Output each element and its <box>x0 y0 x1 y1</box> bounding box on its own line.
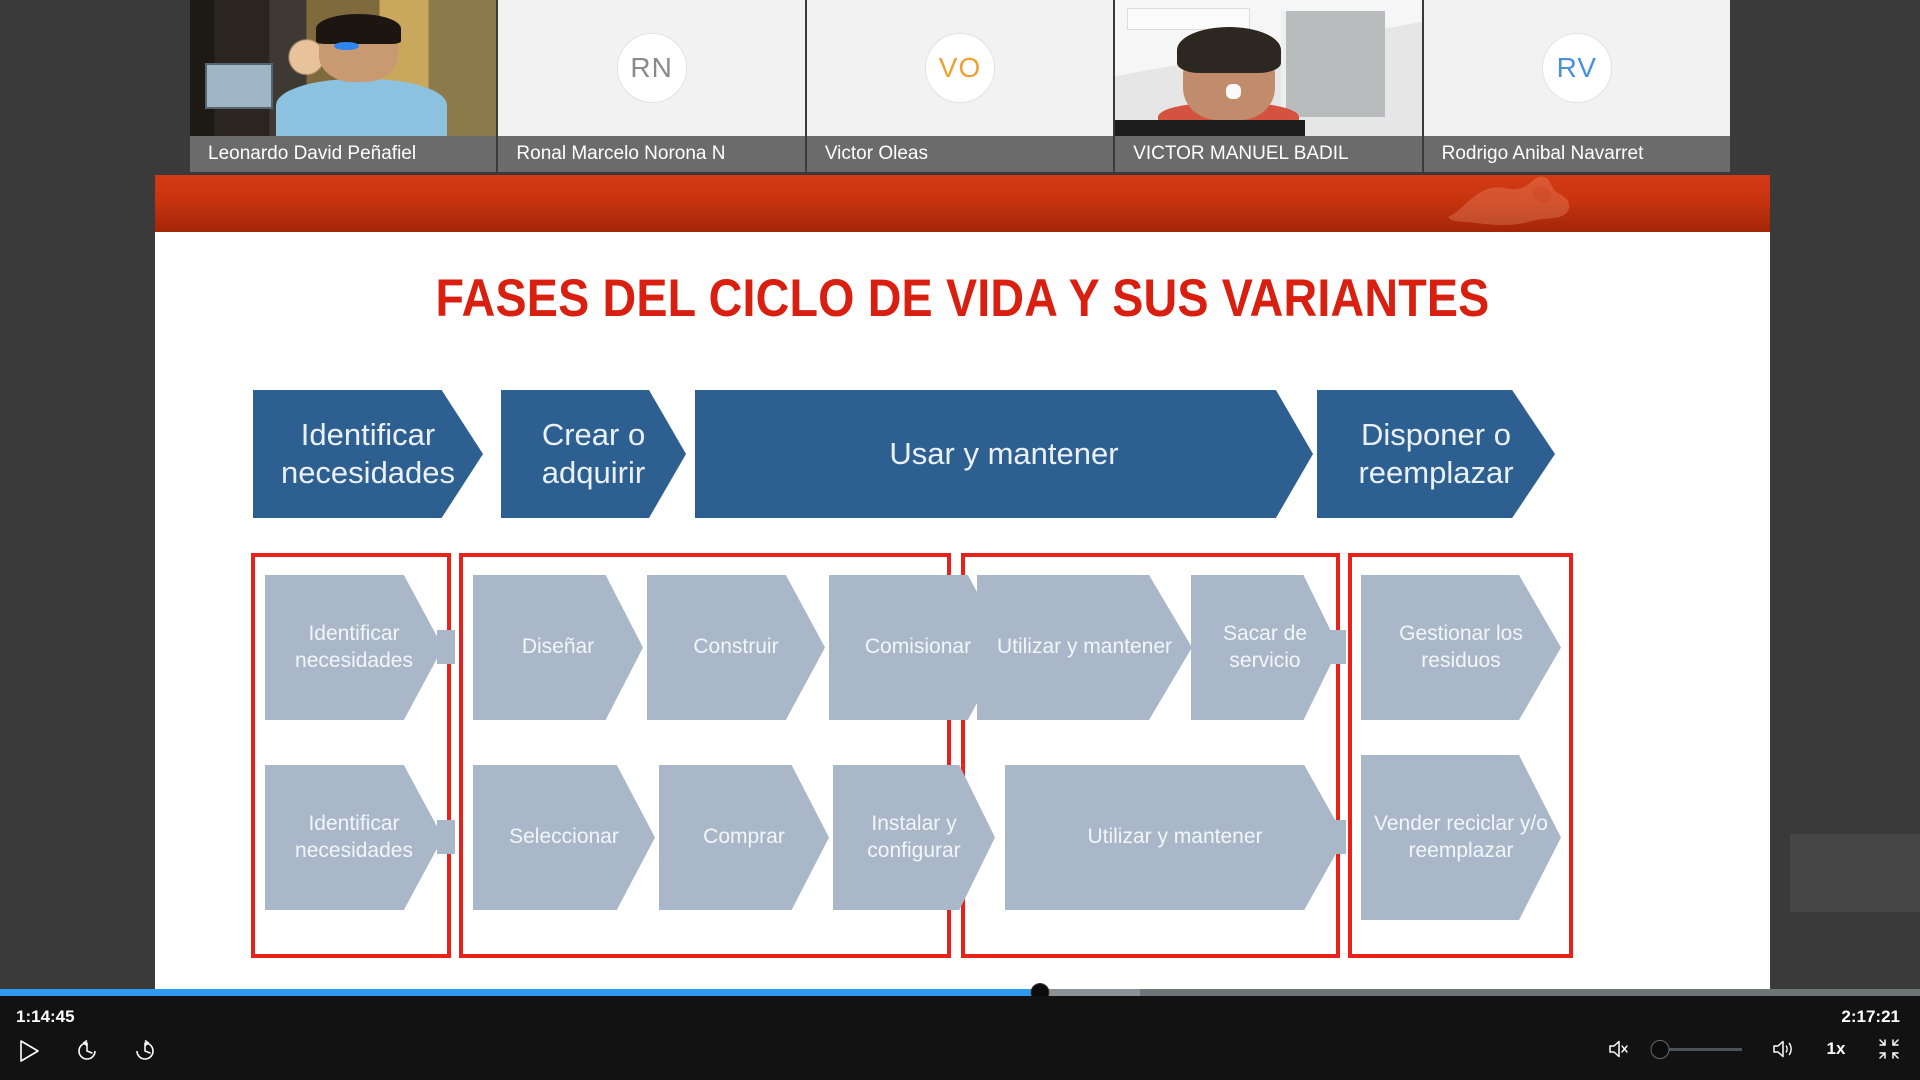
avatar: VO <box>925 33 995 103</box>
avatar-initials: RV <box>1557 52 1597 84</box>
participant-tile[interactable]: Leonardo David Peñafiel <box>190 0 496 172</box>
shared-slide: FASES DEL CICLO DE VIDA Y SUS VARIANTES … <box>155 175 1770 996</box>
stage-corner-patch <box>1790 834 1920 912</box>
slide-banner <box>155 175 1770 232</box>
participant-video <box>1115 0 1421 136</box>
lion-watermark-logo <box>1440 175 1575 232</box>
participant-avatar: VO <box>807 0 1113 136</box>
avatar: RN <box>617 33 687 103</box>
total-time: 2:17:21 <box>1841 1007 1900 1027</box>
playback-speed-button[interactable]: 1x <box>1824 1039 1848 1059</box>
transport-controls <box>14 1036 160 1066</box>
avatar-initials: VO <box>939 52 981 84</box>
participant-name: Leonardo David Peñafiel <box>190 136 496 172</box>
variant-chevron: Seleccionar <box>473 765 655 910</box>
variant-chevron: Utilizar y mantener <box>977 575 1192 720</box>
participant-avatar: RV <box>1424 0 1730 136</box>
avatar-initials: RN <box>630 52 672 84</box>
webcam-feed <box>190 0 496 136</box>
phase-chevron: Crear o adquirir <box>501 390 686 518</box>
participant-avatar: RN <box>498 0 804 136</box>
participant-tile[interactable]: RV Rodrigo Anibal Navarret <box>1424 0 1730 172</box>
audio-and-view-controls: 1x <box>1604 1034 1904 1064</box>
phase-chevron: Usar y mantener <box>695 390 1313 518</box>
participant-name: Ronal Marcelo Norona N <box>498 136 804 172</box>
play-icon[interactable] <box>14 1036 44 1066</box>
seek-bar[interactable] <box>0 989 1920 996</box>
variant-chevron: Vender reciclar y/o reemplazar <box>1361 755 1561 920</box>
participant-tile[interactable]: VO Victor Oleas <box>807 0 1113 172</box>
slide-title: FASES DEL CICLO DE VIDA Y SUS VARIANTES <box>252 268 1673 329</box>
video-stage: Leonardo David Peñafiel RN Ronal Marcelo… <box>0 0 1920 996</box>
exit-fullscreen-icon[interactable] <box>1874 1034 1904 1064</box>
phase-chevron: Identificar necesidades <box>253 390 483 518</box>
forward-10-icon[interactable] <box>130 1036 160 1066</box>
participant-video <box>190 0 496 136</box>
phase-chevron: Disponer o reemplazar <box>1317 390 1555 518</box>
stage-left-gutter <box>0 0 155 996</box>
participant-tile[interactable]: RN Ronal Marcelo Norona N <box>498 0 804 172</box>
volume-mute-icon[interactable] <box>1604 1034 1634 1064</box>
volume-handle[interactable] <box>1651 1040 1670 1059</box>
participant-name: Rodrigo Anibal Navarret <box>1424 136 1730 172</box>
seek-played <box>0 989 1040 996</box>
current-time: 1:14:45 <box>16 1007 75 1027</box>
volume-up-icon[interactable] <box>1768 1034 1798 1064</box>
variant-chevron: Utilizar y mantener <box>1005 765 1345 910</box>
webcam-feed <box>1115 0 1421 136</box>
participant-strip: Leonardo David Peñafiel RN Ronal Marcelo… <box>190 0 1730 172</box>
participant-name: Victor Oleas <box>807 136 1113 172</box>
player-window: Leonardo David Peñafiel RN Ronal Marcelo… <box>0 0 1920 1080</box>
volume-slider[interactable] <box>1660 1048 1742 1051</box>
variant-chevron: Gestionar los residuos <box>1361 575 1561 720</box>
participant-tile[interactable]: VICTOR MANUEL BADIL <box>1115 0 1421 172</box>
rewind-10-icon[interactable] <box>72 1036 102 1066</box>
participant-name: VICTOR MANUEL BADIL <box>1115 136 1421 172</box>
player-controls: 1:14:45 2:17:21 <box>0 996 1920 1080</box>
avatar: RV <box>1542 33 1612 103</box>
